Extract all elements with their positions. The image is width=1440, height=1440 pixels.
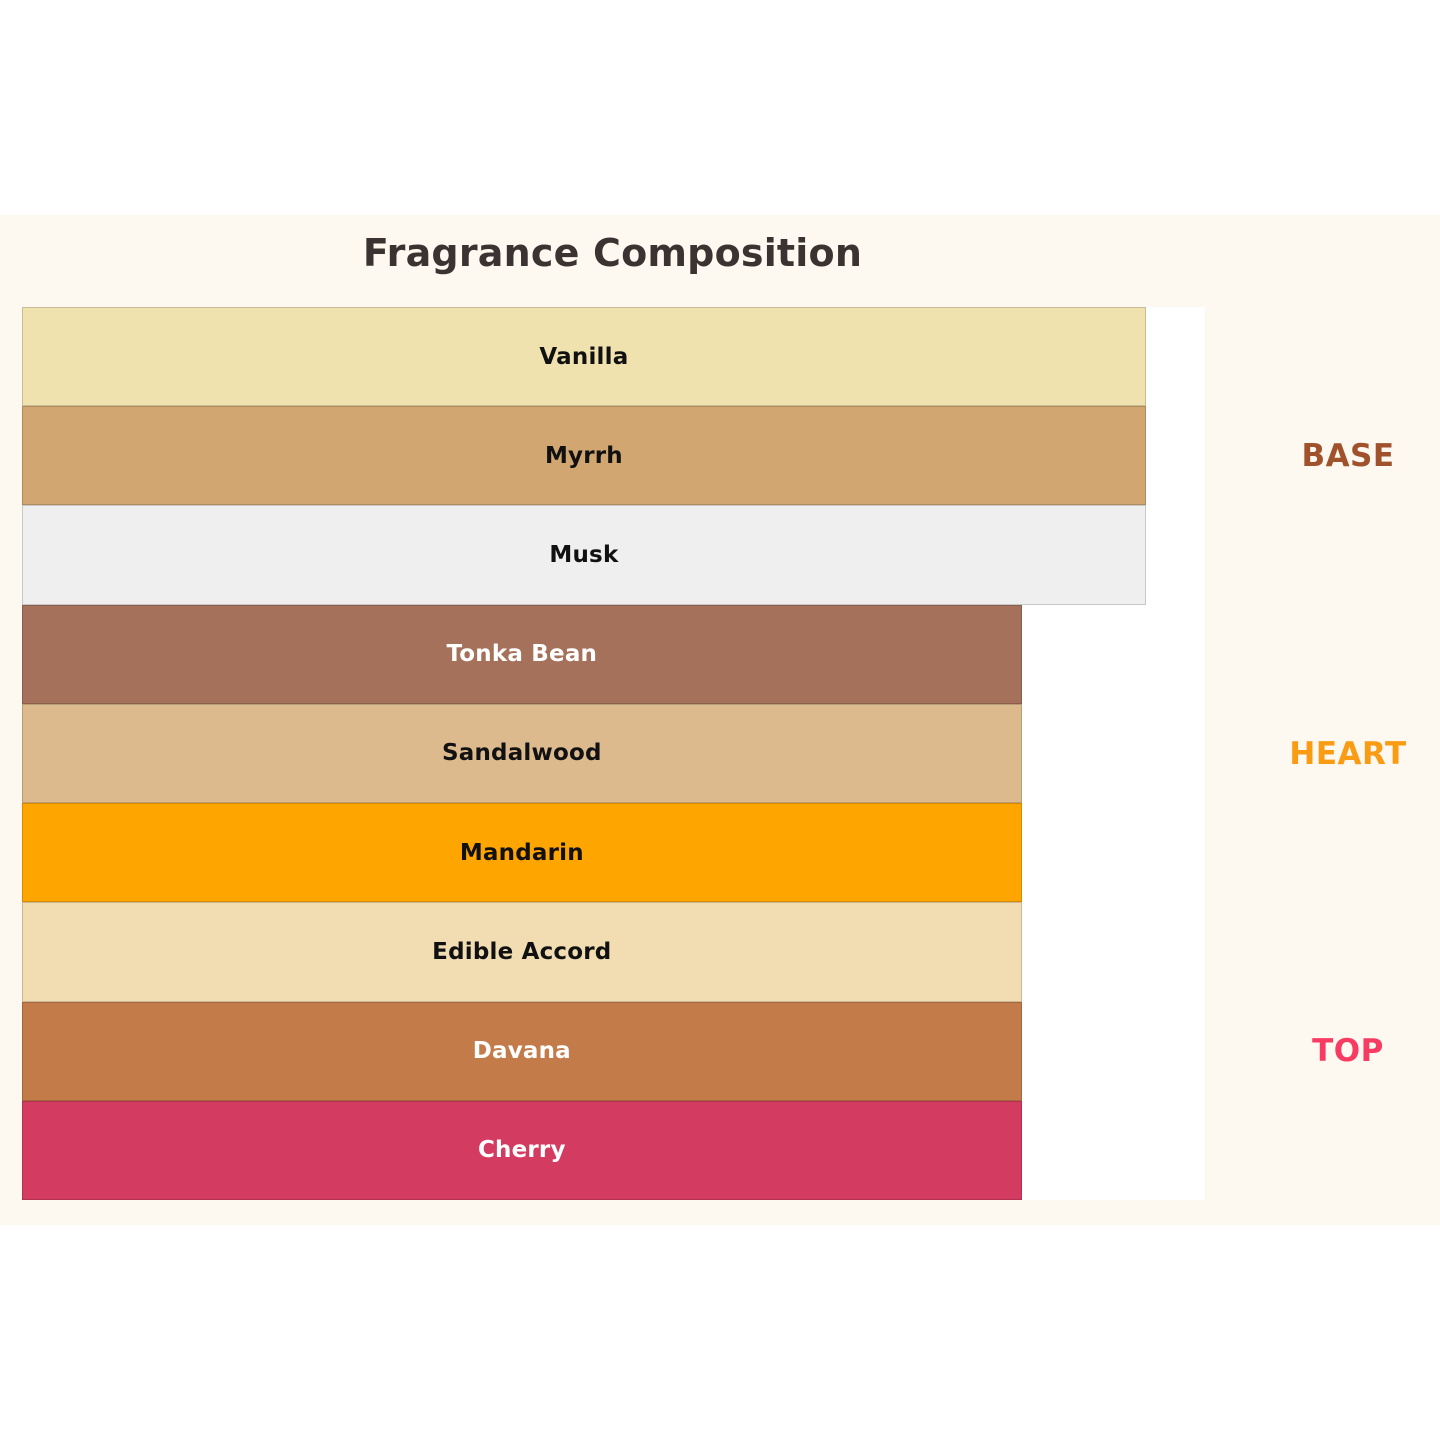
bar-sandalwood[interactable]: Sandalwood xyxy=(22,704,1022,803)
stage-annotation-top: TOP xyxy=(1312,1033,1384,1069)
bar-label: Edible Accord xyxy=(432,939,611,965)
stage-annotation-base: BASE xyxy=(1301,438,1394,474)
bar-davana[interactable]: Davana xyxy=(22,1002,1022,1101)
bar-edible-accord[interactable]: Edible Accord xyxy=(22,902,1022,1001)
bar-cherry[interactable]: Cherry xyxy=(22,1101,1022,1200)
bar-label: Musk xyxy=(549,542,618,568)
stage-annotation-heart: HEART xyxy=(1289,736,1406,772)
bar-label: Cherry xyxy=(478,1137,566,1163)
plot-panel: VanillaMyrrhMuskTonka BeanSandalwoodMand… xyxy=(22,307,1205,1200)
bar-label: Mandarin xyxy=(460,840,584,866)
bar-label: Davana xyxy=(473,1038,571,1064)
bar-vanilla[interactable]: Vanilla xyxy=(22,307,1146,406)
bar-label: Tonka Bean xyxy=(446,641,597,667)
bar-tonka-bean[interactable]: Tonka Bean xyxy=(22,605,1022,704)
chart-figure: Fragrance Composition VanillaMyrrhMuskTo… xyxy=(0,215,1440,1225)
bar-myrrh[interactable]: Myrrh xyxy=(22,406,1146,505)
bar-label: Vanilla xyxy=(539,344,628,370)
bar-label: Sandalwood xyxy=(442,740,602,766)
bar-mandarin[interactable]: Mandarin xyxy=(22,803,1022,902)
bar-label: Myrrh xyxy=(545,443,623,469)
page-title: Fragrance Composition xyxy=(0,231,1225,275)
bar-musk[interactable]: Musk xyxy=(22,505,1146,604)
